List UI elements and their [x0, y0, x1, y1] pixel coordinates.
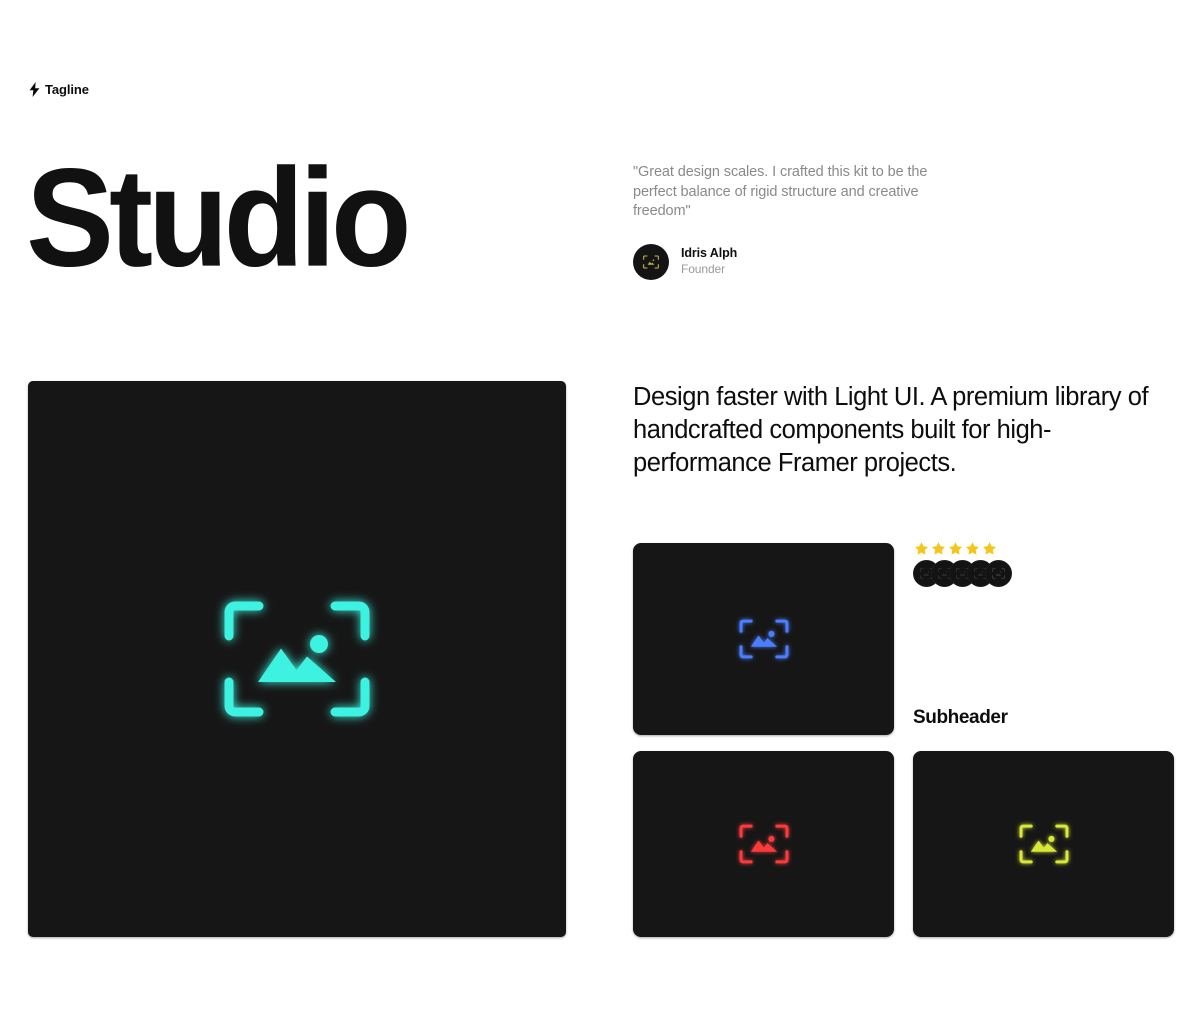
image-placeholder-icon: [1019, 824, 1069, 864]
media-card-tile-b[interactable]: [633, 751, 894, 937]
media-card-main[interactable]: [28, 381, 566, 937]
avatar: [985, 560, 1012, 587]
social-proof: [913, 541, 1012, 587]
star-icon: [930, 541, 947, 557]
star-icon: [947, 541, 964, 557]
author-role: Founder: [681, 263, 737, 277]
image-placeholder-icon: [992, 568, 1005, 579]
rating-stars: [913, 541, 1012, 557]
star-icon: [913, 541, 930, 557]
author-name: Idris Alph: [681, 246, 737, 260]
tagline: Tagline: [28, 81, 89, 97]
lightning-bolt-icon: [28, 81, 41, 97]
tagline-label: Tagline: [45, 83, 89, 96]
subheader: Subheader: [913, 707, 1008, 729]
avatar: [633, 244, 669, 280]
testimonial-block: "Great design scales. I crafted this kit…: [633, 163, 963, 280]
section-heading: Design faster with Light UI. A premium l…: [633, 381, 1178, 480]
image-placeholder-icon: [223, 600, 371, 718]
testimonial-author: Idris Alph Founder: [633, 244, 963, 280]
star-icon: [964, 541, 981, 557]
image-placeholder-icon: [643, 255, 659, 269]
avatar-stack: [913, 560, 1012, 587]
media-card-tile-c[interactable]: [913, 751, 1174, 937]
testimonial-quote: "Great design scales. I crafted this kit…: [633, 163, 963, 222]
media-card-tile-a[interactable]: [633, 543, 894, 735]
star-icon: [981, 541, 998, 557]
image-placeholder-icon: [739, 824, 789, 864]
studio-landing-page: Tagline Studio "Great design scales. I c…: [0, 0, 1200, 1024]
author-meta: Idris Alph Founder: [681, 246, 737, 276]
image-placeholder-icon: [739, 619, 789, 659]
page-title: Studio: [26, 148, 407, 288]
